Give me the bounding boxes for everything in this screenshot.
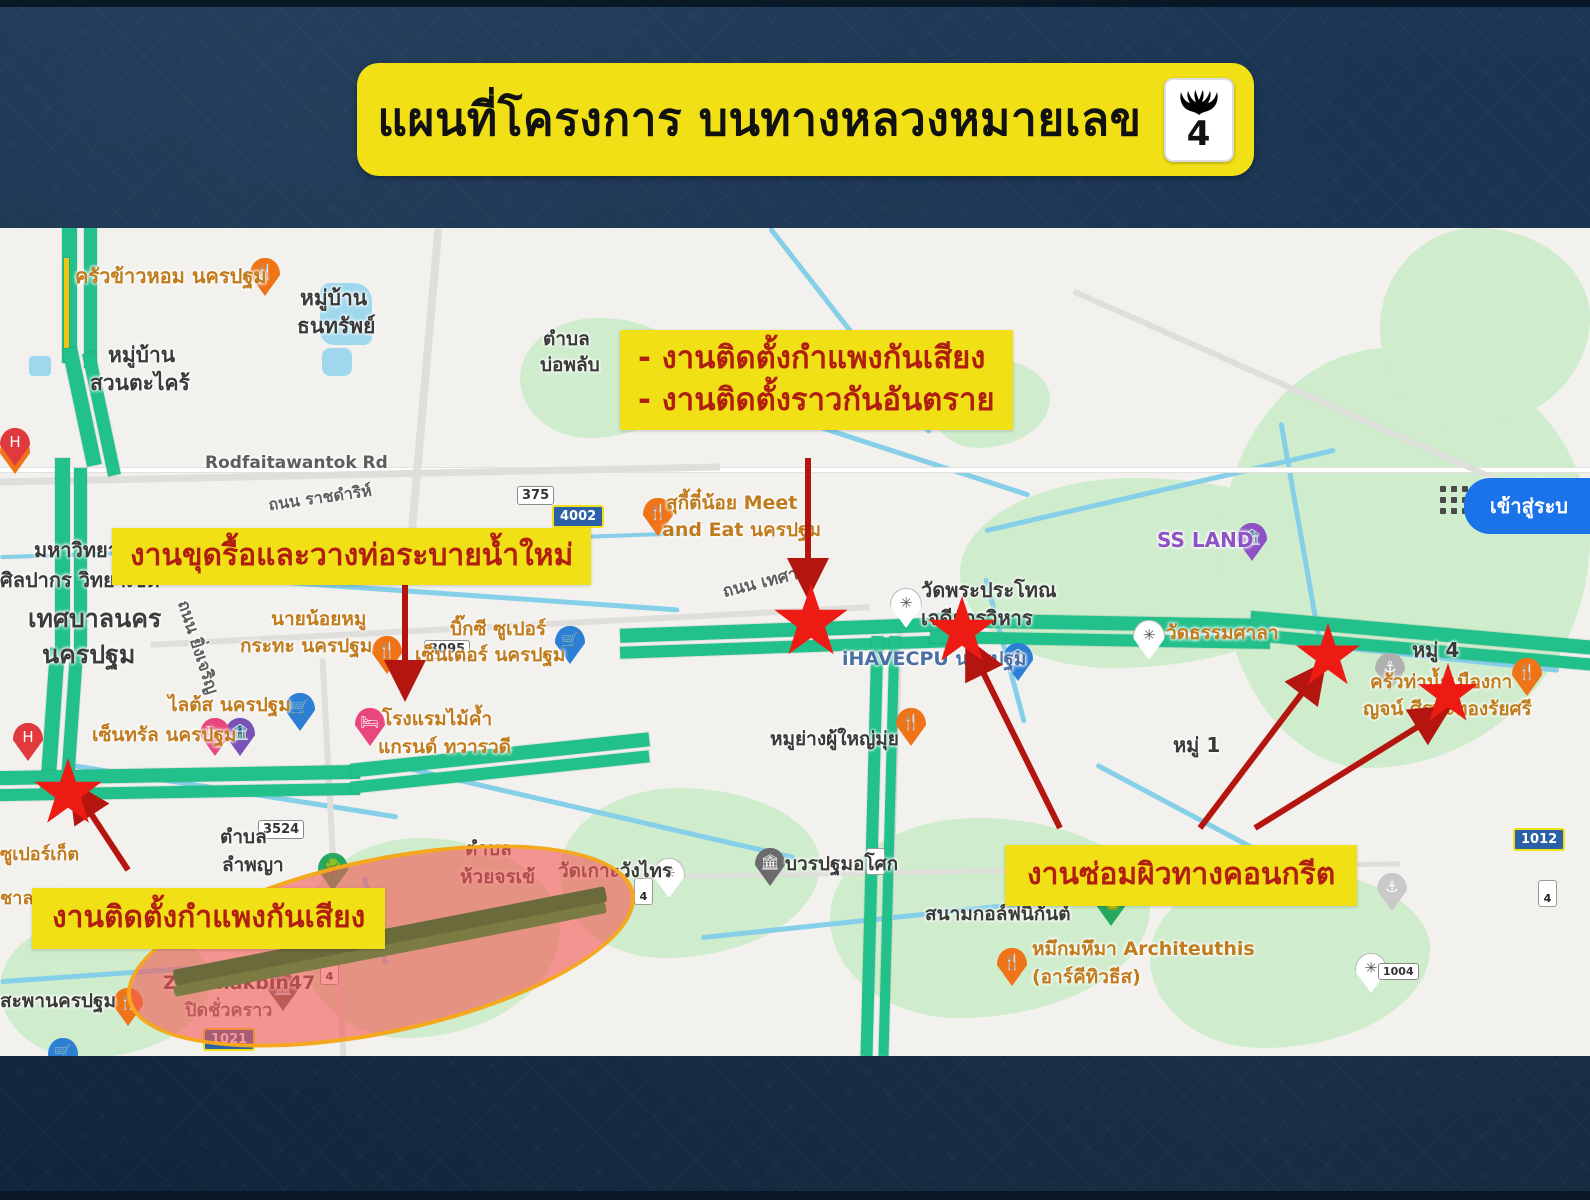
map-label: วัดธรรมศาลา: [1166, 622, 1279, 645]
sign-in-button[interactable]: เข้าสู่ระบ: [1464, 478, 1590, 534]
map-label: SS LAND: [1157, 528, 1253, 552]
map-label: Rodfaitawantok Rd: [205, 453, 388, 474]
map-label: หมู่ 1: [1173, 733, 1220, 757]
route-shield-highway-4: 4: [1538, 880, 1557, 907]
map-label: ลำพญา: [222, 854, 284, 877]
map-label: หมู่บ้าน: [300, 286, 367, 312]
map-label: หมึกมหึมา Architeuthis: [1032, 938, 1255, 961]
slide-title-bar: แผนที่โครงการ บนทางหลวงหมายเลข 4: [357, 63, 1254, 176]
map-label: (อาร์คีทิวธีส): [1032, 966, 1141, 989]
callout-line: - งานติดตั้งกำแพงกันเสียง: [638, 338, 995, 380]
map-label: บิ๊กซี ซูเปอร์: [450, 618, 546, 641]
map-label: ตำบล: [543, 328, 590, 351]
callout-line: งานขุดรื้อและวางท่อระบายน้ำใหม่: [130, 536, 573, 577]
water-body: [322, 348, 352, 376]
highway-route-shield: 4: [1164, 78, 1234, 162]
shield-number: 4: [1187, 117, 1211, 151]
highway-green: [84, 228, 97, 368]
callout-concrete-pavement-repair: งานซ่อมผิวทางคอนกรีต: [1005, 845, 1357, 906]
map-label: นครปฐม: [42, 640, 135, 671]
route-shield-1004: 1004: [1378, 963, 1419, 980]
map-label: สวนตะไคร้: [90, 371, 190, 397]
map-label: ครัวข้าวหอม นครปฐม: [75, 264, 267, 288]
callout-noise-wall-guardrail: - งานติดตั้งกำแพงกันเสียง - งานติดตั้งรา…: [620, 330, 1013, 430]
map-label: ธนทรัพย์: [297, 314, 375, 340]
map-label: หมูย่างผู้ใหญ่มุ่ย: [770, 728, 899, 751]
map-label: เซ็นเตอร์ นครปฐม: [415, 644, 565, 667]
map-label: นายน้อยหมู: [271, 608, 366, 631]
water-body: [29, 356, 51, 376]
bottom-border: [0, 1191, 1590, 1200]
map-label: เซ็นทรัล นครปฐม: [92, 724, 236, 747]
page-title: แผนที่โครงการ บนทางหลวงหมายเลข: [377, 95, 1141, 143]
map-label: หมู่ 4: [1412, 638, 1459, 662]
map-label: สุกี้ตี๋น้อย Meet: [666, 492, 797, 515]
top-border: [0, 0, 1590, 7]
map-label: ซูเปอร์เก็ต: [0, 844, 79, 866]
map-label: and Eat นครปฐม: [662, 519, 821, 542]
highway-green: [64, 258, 69, 348]
callout-drainage-pipe: งานขุดรื้อและวางท่อระบายน้ำใหม่: [112, 528, 591, 585]
map-label: วัดพระประโทณ: [921, 578, 1057, 602]
map-label: หมู่บ้าน: [108, 343, 175, 369]
callout-line: - งานติดตั้งราวกันอันตราย: [638, 380, 995, 422]
map-label: เทศบาลนคร: [28, 604, 161, 635]
route-shield-4002: 4002: [552, 505, 604, 528]
callout-line: งานซ่อมผิวทางคอนกรีต: [1027, 855, 1335, 896]
map-label: แกรนด์ ทวารวดี: [378, 736, 511, 759]
map-label: สะพานครปฐม: [0, 990, 116, 1013]
map-label: โรงแรมไม้ค้ำ: [382, 708, 492, 731]
map-label: ตำบล: [220, 826, 267, 849]
route-shield-375: 375: [517, 486, 554, 505]
map-label: บวรปฐมอโศก: [785, 853, 898, 876]
map-label: สนามกอล์ฟนิกันต์: [925, 903, 1071, 926]
callout-noise-wall-left: งานติดตั้งกำแพงกันเสียง: [32, 888, 385, 949]
route-shield-1012: 1012: [1513, 828, 1565, 851]
map-label: บ่อพลับ: [540, 354, 600, 377]
map-label: กระทะ นครปฐม: [240, 635, 372, 658]
map-label: iHAVECPU นครปฐม: [842, 648, 1026, 671]
map-label: ไลต้ส นครปฐม: [168, 694, 291, 717]
callout-line: งานติดตั้งกำแพงกันเสียง: [52, 898, 365, 939]
